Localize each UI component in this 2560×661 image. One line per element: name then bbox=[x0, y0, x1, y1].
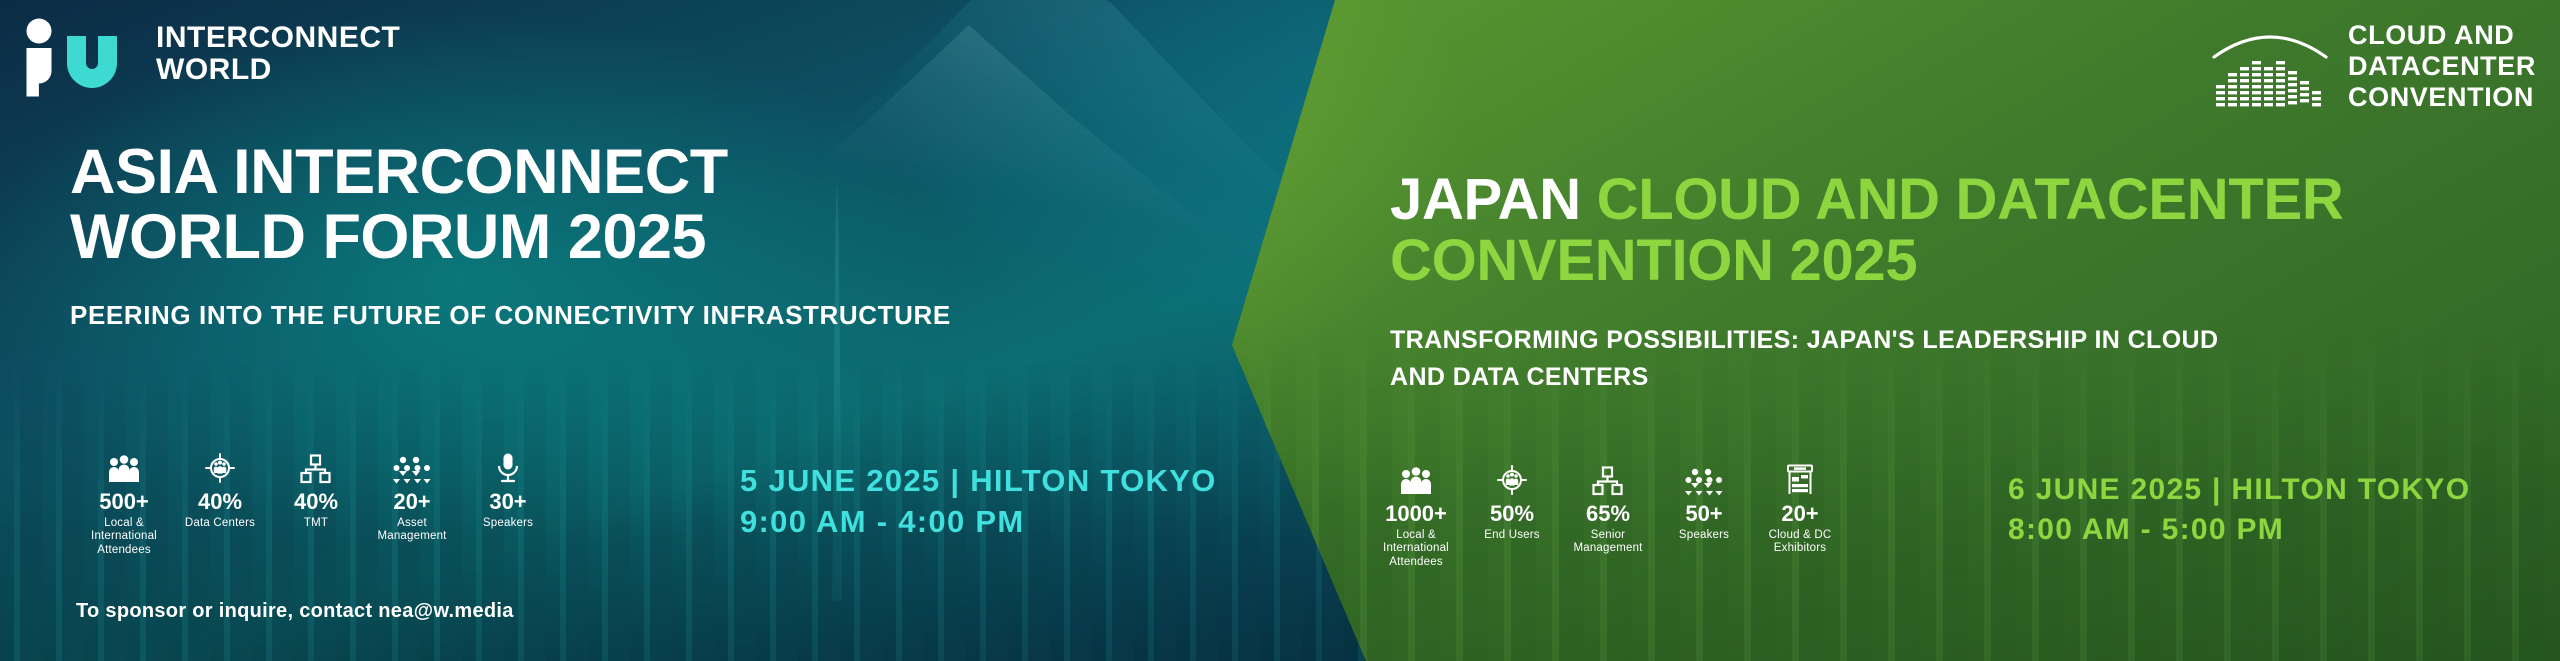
right-event-content: JAPAN CLOUD AND DATACENTER CONVENTION 20… bbox=[1390, 170, 2540, 397]
stat-label: Speakers bbox=[460, 517, 556, 530]
left-event-subtitle: PEERING INTO THE FUTURE OF CONNECTIVITY … bbox=[70, 300, 1180, 331]
cloud-datacenter-convention-logo: CLOUD AND DATACENTER CONVENTION bbox=[2210, 20, 2536, 112]
people-group-icon bbox=[1368, 462, 1464, 496]
stat-item: 20+ Asset Management bbox=[364, 450, 460, 544]
stat-item: 30+ Speakers bbox=[460, 450, 556, 530]
iw-monogram-icon bbox=[22, 18, 140, 90]
stat-number: 20+ bbox=[1752, 502, 1848, 526]
left-event-title: ASIA INTERCONNECT WORLD FORUM 2025 bbox=[70, 140, 1180, 270]
right-subtitle-line1: TRANSFORMING POSSIBILITIES: JAPAN'S LEAD… bbox=[1390, 322, 2540, 360]
stat-label: Asset Management bbox=[364, 517, 460, 543]
left-event-content: ASIA INTERCONNECT WORLD FORUM 2025 PEERI… bbox=[70, 140, 1180, 331]
cdc-logo-line2: DATACENTER bbox=[2348, 51, 2536, 82]
right-title-line2: CONVENTION 2025 bbox=[1390, 231, 2540, 292]
cdc-logo-line1: CLOUD AND bbox=[2348, 20, 2536, 51]
exhibition-booth-icon bbox=[1752, 462, 1848, 496]
left-title-line1: ASIA INTERCONNECT bbox=[70, 140, 1180, 205]
stat-item: 65% Senior Management bbox=[1560, 462, 1656, 556]
stat-label: End Users bbox=[1464, 529, 1560, 542]
left-stats-row: 500+ Local & International Attendees 40%… bbox=[76, 450, 556, 557]
stat-label: Data Centers bbox=[172, 517, 268, 530]
stat-number: 50+ bbox=[1656, 502, 1752, 526]
stat-number: 40% bbox=[268, 490, 364, 514]
right-title-line1: JAPAN CLOUD AND DATACENTER bbox=[1390, 170, 2540, 231]
stat-number: 40% bbox=[172, 490, 268, 514]
team-cluster-icon bbox=[364, 450, 460, 484]
stat-label: Cloud & DC Exhibitors bbox=[1752, 529, 1848, 555]
right-event-subtitle: TRANSFORMING POSSIBILITIES: JAPAN'S LEAD… bbox=[1390, 322, 2540, 397]
stat-item: 50% End Users bbox=[1464, 462, 1560, 542]
stat-label: Speakers bbox=[1656, 529, 1752, 542]
people-group-icon bbox=[76, 450, 172, 484]
right-title-cloud-dc: CLOUD AND DATACENTER bbox=[1597, 167, 2344, 232]
target-people-icon bbox=[172, 450, 268, 484]
network-nodes-icon bbox=[1560, 462, 1656, 496]
stat-item: 500+ Local & International Attendees bbox=[76, 450, 172, 557]
stat-number: 65% bbox=[1560, 502, 1656, 526]
stat-number: 20+ bbox=[364, 490, 460, 514]
stat-number: 50% bbox=[1464, 502, 1560, 526]
right-event-time: 8:00 AM - 5:00 PM bbox=[2008, 510, 2470, 550]
interconnect-world-logo: INTERCONNECT WORLD bbox=[22, 18, 400, 90]
iw-logo-line1: INTERCONNECT bbox=[156, 22, 400, 54]
stat-item: 40% TMT bbox=[268, 450, 364, 530]
stat-number: 500+ bbox=[76, 490, 172, 514]
cdc-logo-line3: CONVENTION bbox=[2348, 82, 2536, 113]
stat-item: 20+ Cloud & DC Exhibitors bbox=[1752, 462, 1848, 556]
datacenter-skyline-icon bbox=[2210, 23, 2330, 109]
sponsor-contact-text: To sponsor or inquire, contact nea@w.med… bbox=[76, 600, 514, 623]
stat-item: 40% Data Centers bbox=[172, 450, 268, 530]
right-subtitle-line2: AND DATA CENTERS bbox=[1390, 359, 2540, 397]
event-banner: INTERCONNECT WORLD bbox=[0, 0, 2560, 661]
network-nodes-icon bbox=[268, 450, 364, 484]
stat-label: Senior Management bbox=[1560, 529, 1656, 555]
right-event-date: 6 JUNE 2025 | HILTON TOKYO bbox=[2008, 470, 2470, 510]
right-event-title: JAPAN CLOUD AND DATACENTER CONVENTION 20… bbox=[1390, 170, 2540, 292]
iw-logo-line2: WORLD bbox=[156, 54, 400, 86]
right-stats-row: 1000+ Local & International Attendees 50… bbox=[1368, 462, 1848, 569]
left-event-datetime: 5 JUNE 2025 | HILTON TOKYO 9:00 AM - 4:0… bbox=[740, 460, 1217, 542]
stat-item: 50+ Speakers bbox=[1656, 462, 1752, 542]
team-cluster-icon bbox=[1656, 462, 1752, 496]
cdc-logo-text: CLOUD AND DATACENTER CONVENTION bbox=[2348, 20, 2536, 112]
stat-label: TMT bbox=[268, 517, 364, 530]
stat-number: 30+ bbox=[460, 490, 556, 514]
left-event-date: 5 JUNE 2025 | HILTON TOKYO bbox=[740, 460, 1217, 501]
right-title-japan: JAPAN bbox=[1390, 167, 1581, 232]
right-event-datetime: 6 JUNE 2025 | HILTON TOKYO 8:00 AM - 5:0… bbox=[2008, 470, 2470, 550]
left-title-line2: WORLD FORUM 2025 bbox=[70, 205, 1180, 270]
stat-item: 1000+ Local & International Attendees bbox=[1368, 462, 1464, 569]
microphone-icon bbox=[460, 450, 556, 484]
target-people-icon bbox=[1464, 462, 1560, 496]
stat-label: Local & International Attendees bbox=[76, 517, 172, 557]
stat-number: 1000+ bbox=[1368, 502, 1464, 526]
stat-label: Local & International Attendees bbox=[1368, 529, 1464, 569]
left-event-time: 9:00 AM - 4:00 PM bbox=[740, 501, 1217, 542]
iw-logo-text: INTERCONNECT WORLD bbox=[156, 22, 400, 87]
